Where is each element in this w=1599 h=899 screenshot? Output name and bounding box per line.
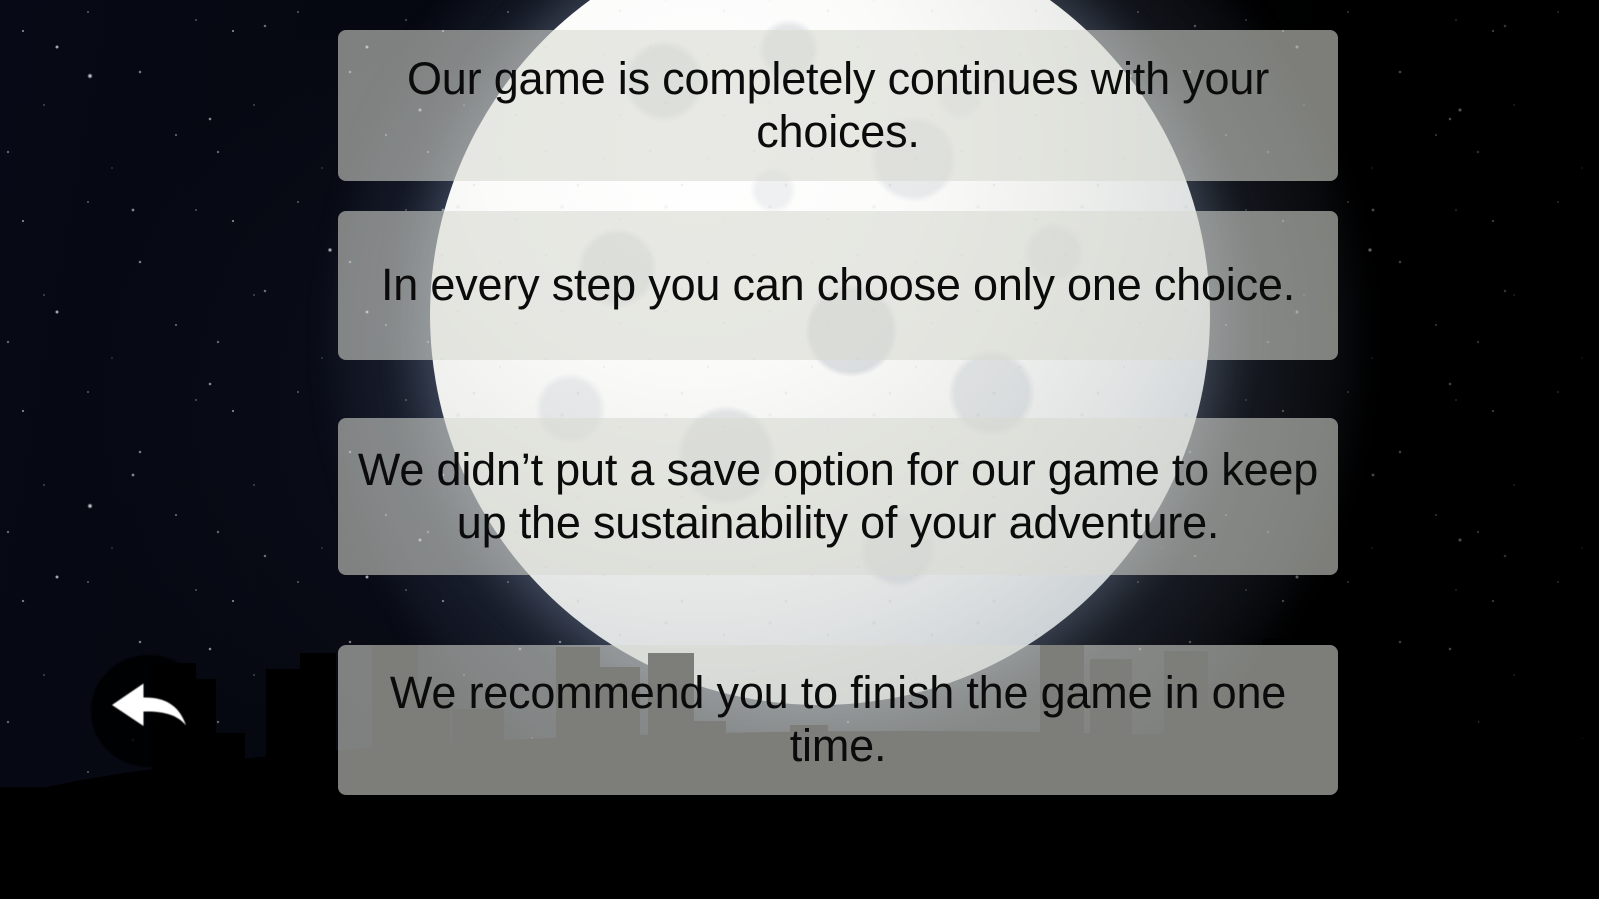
rule-panel-3: We didn’t put a save option for our game… <box>338 418 1338 575</box>
rule-panel-4-text: We recommend you to finish the game in o… <box>352 667 1324 772</box>
rule-panel-1: Our game is completely continues with yo… <box>338 30 1338 181</box>
rule-panel-2: In every step you can choose only one ch… <box>338 211 1338 360</box>
rule-panel-1-text: Our game is completely continues with yo… <box>352 53 1324 158</box>
game-rules-screen: Our game is completely continues with yo… <box>0 0 1599 899</box>
back-arrow-icon <box>107 678 191 744</box>
back-button[interactable] <box>91 655 207 767</box>
rule-panel-3-text: We didn’t put a save option for our game… <box>352 444 1324 549</box>
rule-panel-4: We recommend you to finish the game in o… <box>338 645 1338 795</box>
foreground-ground <box>0 787 1599 899</box>
rule-panel-2-text: In every step you can choose only one ch… <box>352 259 1324 312</box>
